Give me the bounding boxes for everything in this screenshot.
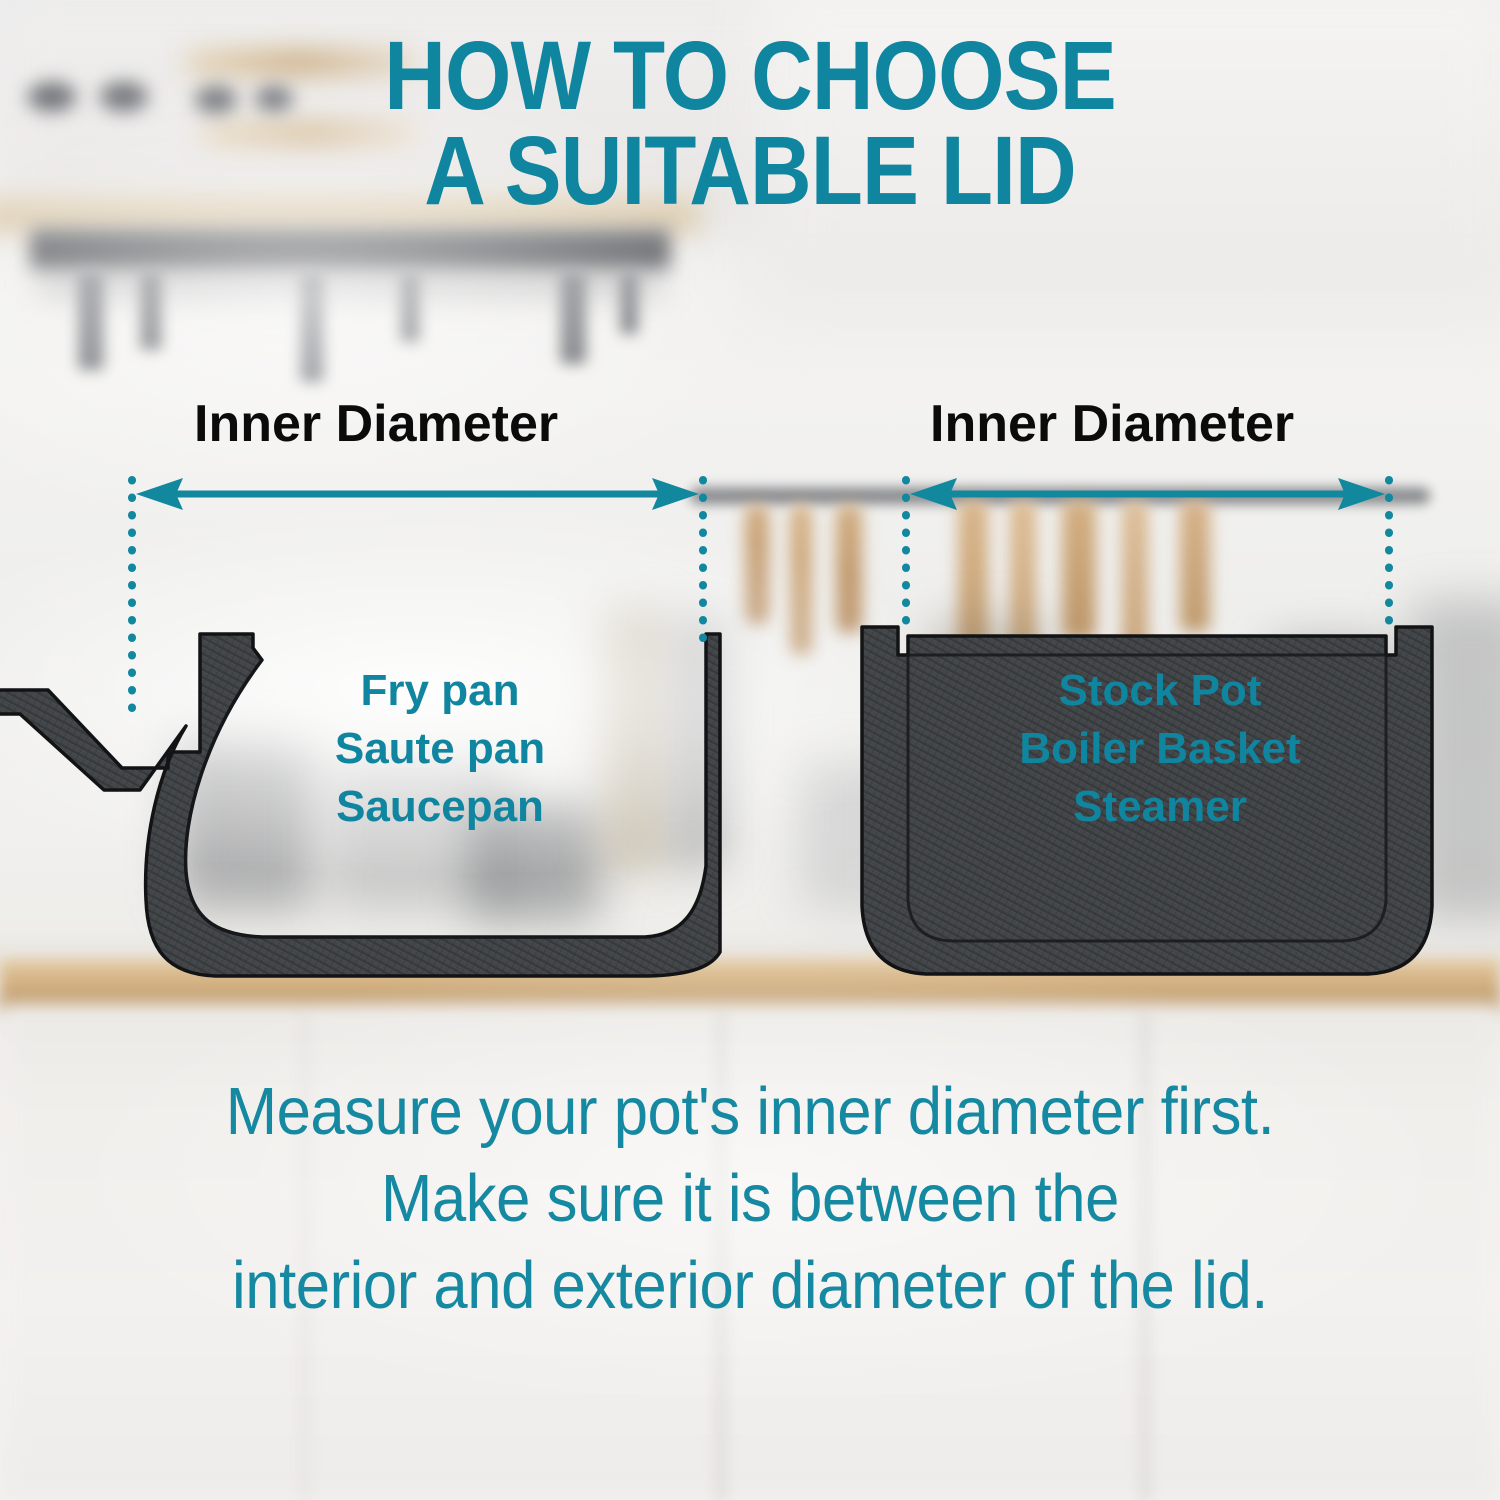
cookware-label-right: Stock Pot Boiler Basket Steamer [965,662,1355,836]
diagram-foreground: HOW TO CHOOSE A SUITABLE LID Inner Diame… [0,0,1500,1500]
double-headed-arrow-icon [910,478,1385,510]
dimension-label-left: Inner Diameter [194,398,558,450]
instruction-caption: Measure your pot's inner diameter first.… [143,1068,1357,1329]
infographic-canvas: HOW TO CHOOSE A SUITABLE LID Inner Diame… [0,0,1500,1500]
dimension-label-right: Inner Diameter [930,398,1294,450]
cookware-label-left: Fry pan Saute pan Saucepan [230,662,650,836]
double-headed-arrow-icon [136,478,699,510]
page-title: HOW TO CHOOSE A SUITABLE LID [90,28,1410,218]
